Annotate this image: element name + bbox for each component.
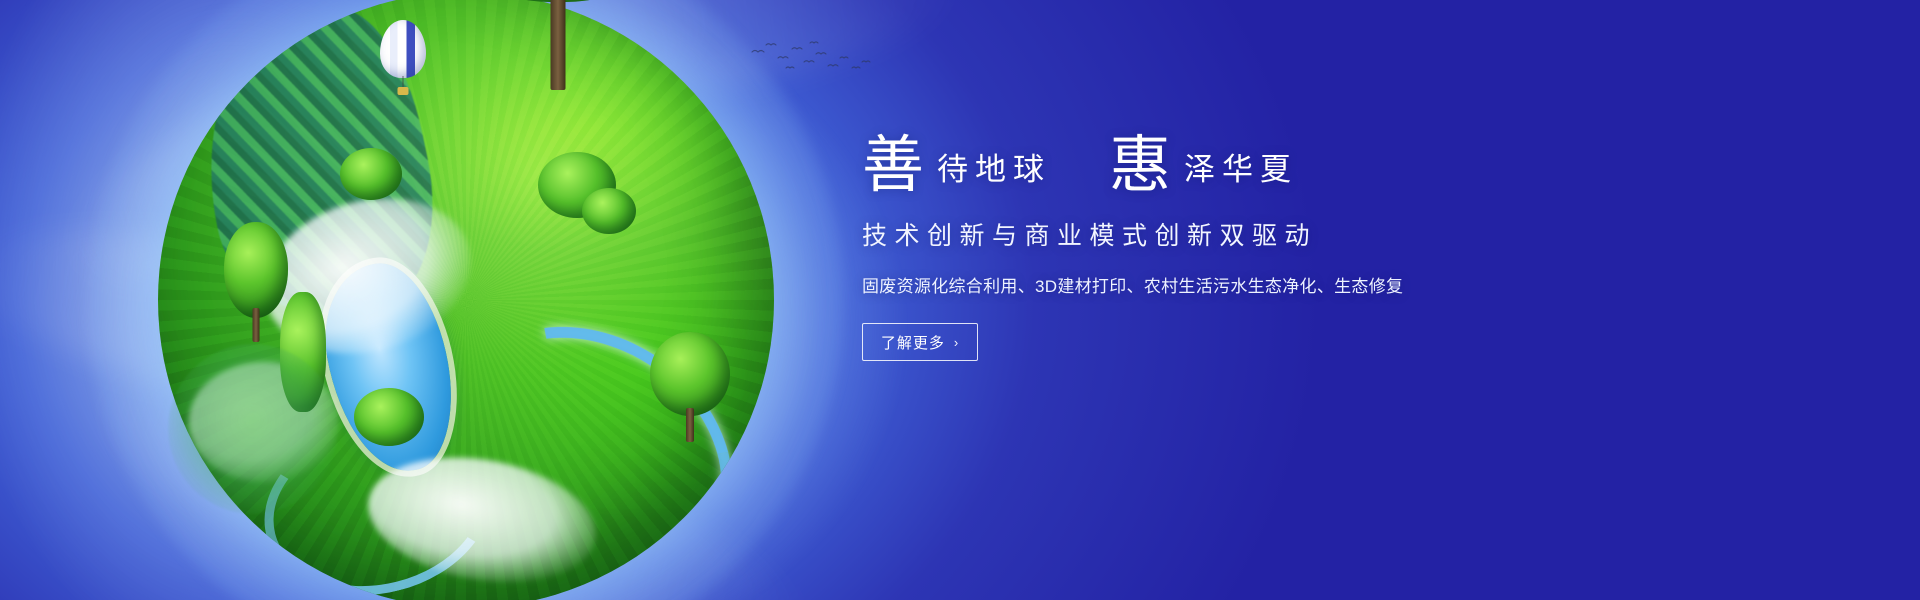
tree-icon <box>224 222 288 342</box>
bush-icon <box>354 388 424 446</box>
tree-trunk <box>253 308 260 342</box>
learn-more-label: 了解更多 <box>881 332 945 353</box>
page-title: 善 待地球 惠 泽华夏 <box>862 132 1502 194</box>
chevron-right-icon: › <box>954 335 959 350</box>
tree-trunk <box>551 0 566 90</box>
balloon-envelope <box>380 20 426 78</box>
balloon-basket <box>398 87 409 95</box>
green-globe-image <box>158 0 774 600</box>
tree-trunk <box>686 408 694 442</box>
headline-text-2: 泽华夏 <box>1178 155 1298 186</box>
page-subtitle: 技术创新与商业模式创新双驱动 <box>862 216 1502 252</box>
bush-icon <box>582 188 636 234</box>
hero-banner: 善 待地球 惠 泽华夏 技术创新与商业模式创新双驱动 固废资源化综合利用、3D建… <box>0 0 1920 600</box>
tree-icon <box>168 344 338 514</box>
headline-text-1: 待地球 <box>931 155 1051 186</box>
learn-more-button[interactable]: 了解更多 › <box>862 323 978 361</box>
page-description: 固废资源化综合利用、3D建材打印、农村生活污水生态净化、生态修复 <box>862 272 1502 297</box>
headline-char-primary-2: 惠 <box>1109 134 1172 196</box>
headline-char-primary-1: 善 <box>862 134 925 196</box>
hero-text-block: 善 待地球 惠 泽华夏 技术创新与商业模式创新双驱动 固废资源化综合利用、3D建… <box>862 132 1502 361</box>
bush-icon <box>340 148 402 200</box>
hot-air-balloon-icon <box>380 20 426 102</box>
tree-crown <box>650 332 730 416</box>
tree-crown <box>224 222 288 318</box>
tree-icon <box>650 332 730 442</box>
tree-icon <box>453 0 663 82</box>
birds-icon <box>748 40 878 76</box>
